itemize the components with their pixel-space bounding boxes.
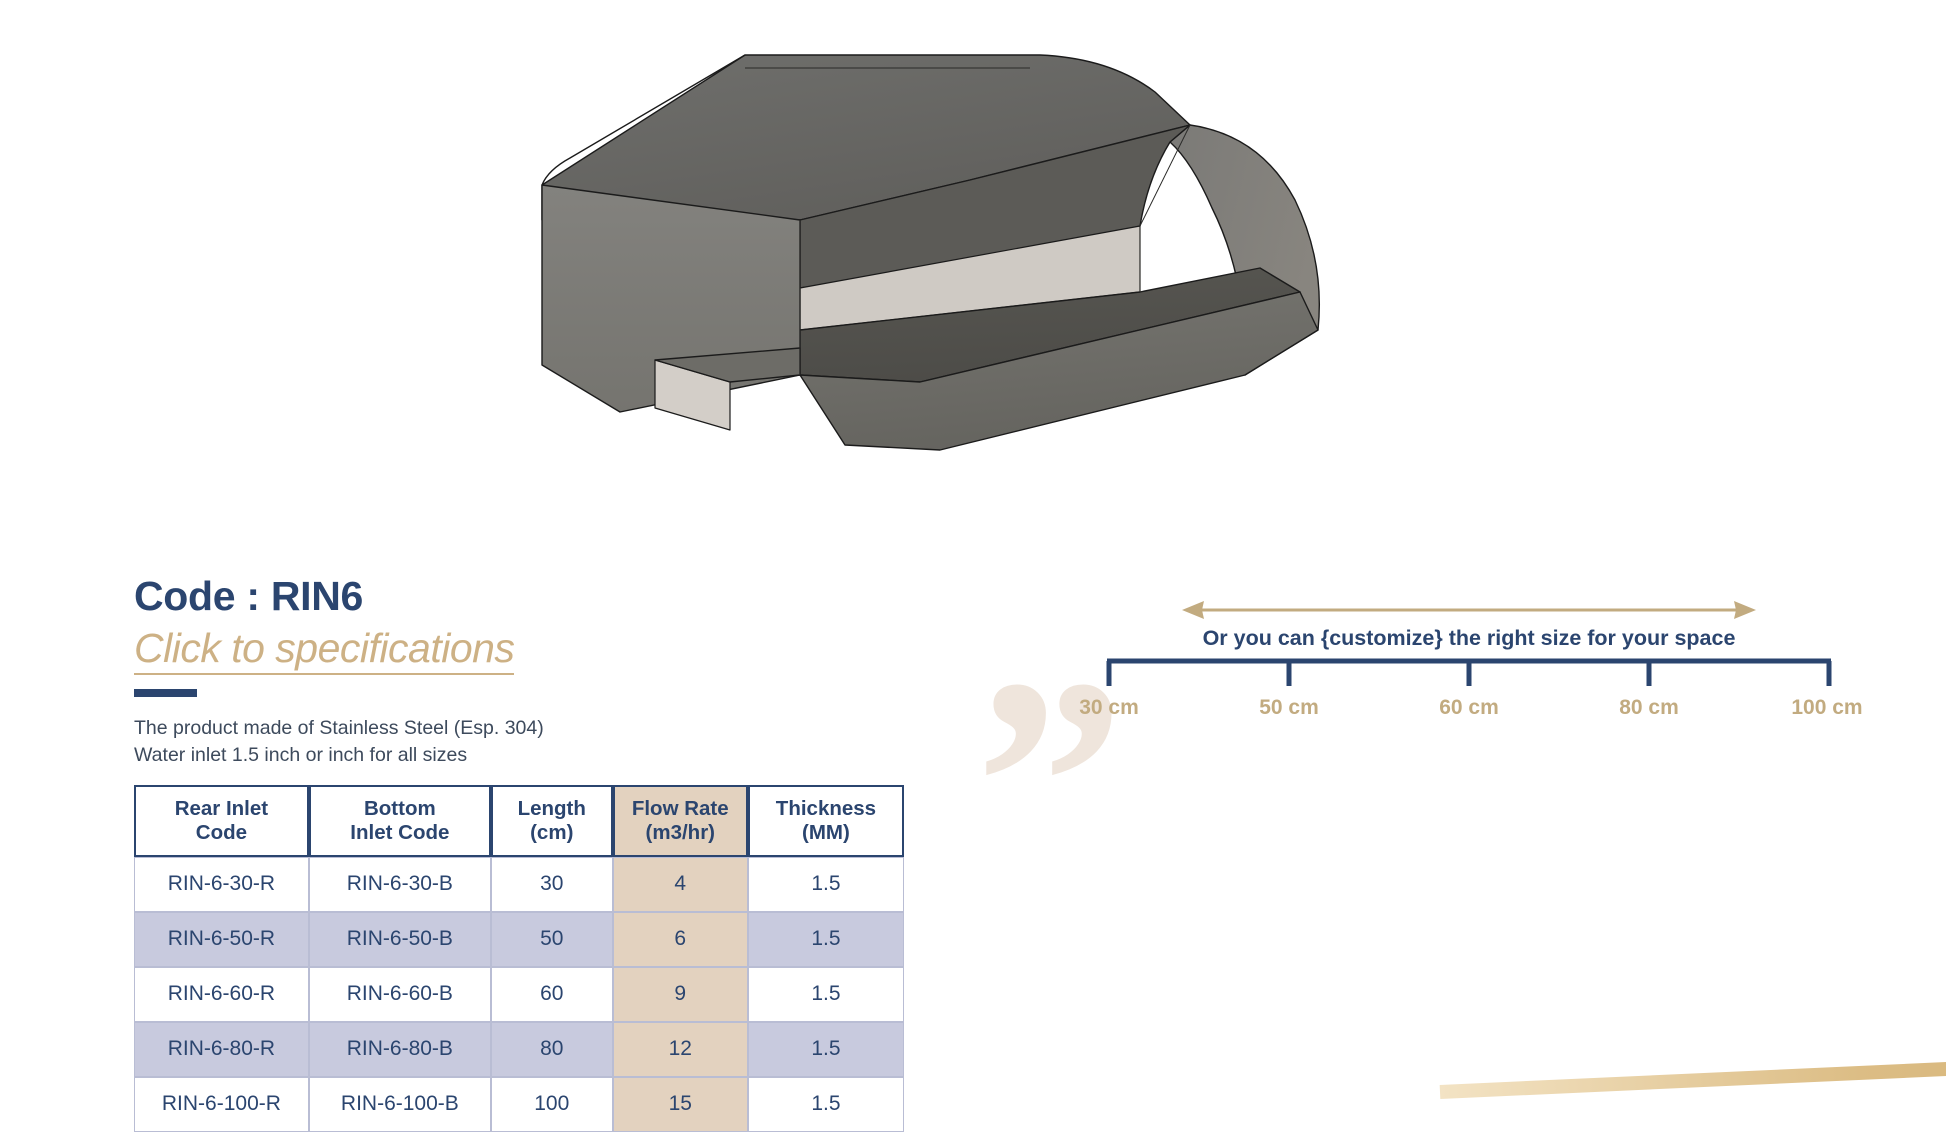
- ruler-tick-label-30: 30 cm: [1079, 696, 1139, 720]
- cell-flow-rate: 12: [613, 1022, 748, 1077]
- ruler-tick-label-80: 80 cm: [1619, 696, 1679, 720]
- cell-flow-rate: 4: [613, 857, 748, 912]
- cell-flow-rate: 9: [613, 967, 748, 1022]
- ruler-tick-label-50: 50 cm: [1259, 696, 1319, 720]
- cell-thickness: 1.5: [748, 857, 904, 912]
- product-spec-page: Code : RIN6 Click to specifications The …: [0, 0, 1946, 1133]
- header-line-1: Rear Inlet: [175, 797, 268, 820]
- cell-bottom-inlet-code: RIN-6-30-B: [309, 857, 491, 912]
- cell-length: 100: [491, 1077, 613, 1132]
- cell-rear-inlet-code: RIN-6-50-R: [134, 912, 309, 967]
- cell-rear-inlet-code: RIN-6-100-R: [134, 1077, 309, 1132]
- product-illustration: [500, 30, 1480, 470]
- cell-bottom-inlet-code: RIN-6-80-B: [309, 1022, 491, 1077]
- table-row: RIN-6-30-R RIN-6-30-B 30 4 1.5: [134, 857, 904, 912]
- cell-flow-rate: 6: [613, 912, 748, 967]
- cell-bottom-inlet-code: RIN-6-60-B: [309, 967, 491, 1022]
- description-line-2: Water inlet 1.5 inch or inch for all siz…: [134, 742, 924, 769]
- table-header-row: Rear Inlet Code Bottom Inlet Code Length…: [134, 785, 904, 857]
- cell-thickness: 1.5: [748, 1077, 904, 1132]
- cell-length: 50: [491, 912, 613, 967]
- accent-bar: [134, 689, 197, 697]
- cell-length: 60: [491, 967, 613, 1022]
- column-header-thickness: Thickness (MM): [748, 785, 904, 857]
- header-line-2: (MM): [802, 821, 850, 844]
- product-description: The product made of Stainless Steel (Esp…: [134, 715, 924, 769]
- ruler-tick-label-100: 100 cm: [1791, 696, 1862, 720]
- ruler-caption: Or you can {customize} the right size fo…: [1105, 626, 1833, 651]
- table-row: RIN-6-60-R RIN-6-60-B 60 9 1.5: [134, 967, 904, 1022]
- column-header-flow-rate: Flow Rate (m3/hr): [613, 785, 748, 857]
- cell-length: 30: [491, 857, 613, 912]
- column-header-bottom-inlet-code: Bottom Inlet Code: [309, 785, 491, 857]
- table-row: RIN-6-80-R RIN-6-80-B 80 12 1.5: [134, 1022, 904, 1077]
- header-line-2: (cm): [530, 821, 573, 844]
- cell-rear-inlet-code: RIN-6-60-R: [134, 967, 309, 1022]
- header-line-1: Thickness: [776, 797, 876, 820]
- cell-flow-rate: 15: [613, 1077, 748, 1132]
- double-headed-arrow-icon: [1180, 596, 1758, 624]
- product-details: Code : RIN6 Click to specifications The …: [134, 575, 924, 1132]
- cell-thickness: 1.5: [748, 967, 904, 1022]
- cell-thickness: 1.5: [748, 1022, 904, 1077]
- table-row: RIN-6-100-R RIN-6-100-B 100 15 1.5: [134, 1077, 904, 1132]
- ruler-tick-labels: 30 cm 50 cm 60 cm 80 cm 100 cm: [1105, 696, 1833, 726]
- cell-thickness: 1.5: [748, 912, 904, 967]
- cell-bottom-inlet-code: RIN-6-100-B: [309, 1077, 491, 1132]
- cell-bottom-inlet-code: RIN-6-50-B: [309, 912, 491, 967]
- column-header-rear-inlet-code: Rear Inlet Code: [134, 785, 309, 857]
- table-body: RIN-6-30-R RIN-6-30-B 30 4 1.5 RIN-6-50-…: [134, 857, 904, 1132]
- cell-length: 80: [491, 1022, 613, 1077]
- table-row: RIN-6-50-R RIN-6-50-B 50 6 1.5: [134, 912, 904, 967]
- header-line-1: Length: [518, 797, 586, 820]
- header-line-1: Flow Rate: [632, 797, 729, 820]
- table-header: Rear Inlet Code Bottom Inlet Code Length…: [134, 785, 904, 857]
- cell-rear-inlet-code: RIN-6-30-R: [134, 857, 309, 912]
- header-line-2: (m3/hr): [646, 821, 715, 844]
- header-line-2: Code: [196, 821, 247, 844]
- specifications-link[interactable]: Click to specifications: [134, 626, 514, 675]
- cell-rear-inlet-code: RIN-6-80-R: [134, 1022, 309, 1077]
- ruler-tick-label-60: 60 cm: [1439, 696, 1499, 720]
- header-line-2: Inlet Code: [350, 821, 449, 844]
- column-header-length: Length (cm): [491, 785, 613, 857]
- specifications-table: Rear Inlet Code Bottom Inlet Code Length…: [134, 785, 904, 1132]
- ruler-scale-graphic: [1105, 658, 1833, 692]
- page-title: Code : RIN6: [134, 575, 924, 618]
- description-line-1: The product made of Stainless Steel (Esp…: [134, 715, 924, 742]
- size-ruler: Or you can {customize} the right size fo…: [1105, 596, 1833, 736]
- corner-accent-stripe: [1440, 1053, 1946, 1099]
- header-line-1: Bottom: [364, 797, 436, 820]
